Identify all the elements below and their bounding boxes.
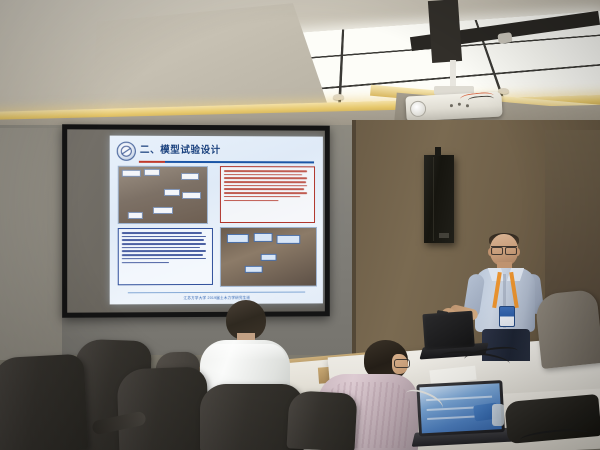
slide-footer-divider [128, 292, 305, 294]
name-badge [499, 306, 515, 327]
conference-room-photo: 二、模型试验设计 [0, 0, 600, 450]
glasses-icon [394, 359, 410, 368]
glasses-icon [491, 246, 517, 254]
ceiling-projector [398, 60, 508, 120]
projector-lens-icon [410, 100, 427, 117]
slide-image-apparatus-bottom [220, 227, 317, 287]
chair [534, 289, 600, 369]
slide-title-divider [139, 161, 314, 163]
wall-speaker [424, 155, 454, 243]
slide-image-apparatus-top [118, 166, 208, 224]
slide-text-box-red [220, 166, 315, 223]
chair [287, 390, 358, 450]
ceiling-spotlight-icon [497, 32, 512, 44]
speaker-mount [435, 147, 441, 156]
attendee-shoulder-highlight [202, 344, 286, 360]
chair [117, 366, 210, 450]
smoke-detector-icon [333, 94, 344, 100]
speaker-seam [433, 157, 434, 241]
ceiling-track-beam-vertical [428, 0, 462, 63]
slide-text-box-blue [118, 228, 213, 285]
water-bottle [492, 404, 504, 426]
slide-title-divider-accent [139, 161, 165, 163]
slide-title: 二、模型试验设计 [140, 142, 221, 156]
wall-corner-edge [352, 120, 356, 370]
speaker-badge [439, 233, 449, 238]
projector-mount-rod [450, 60, 456, 88]
left-wall-panel [0, 128, 62, 360]
projected-slide: 二、模型试验设计 [110, 136, 323, 305]
university-emblem-icon [117, 142, 136, 161]
chair [0, 354, 88, 450]
screen-surface: 二、模型试验设计 [67, 129, 325, 312]
laptop-lid [422, 311, 474, 350]
screen-unprojected-area [67, 129, 109, 312]
projection-screen: 二、模型试验设计 [62, 124, 330, 318]
